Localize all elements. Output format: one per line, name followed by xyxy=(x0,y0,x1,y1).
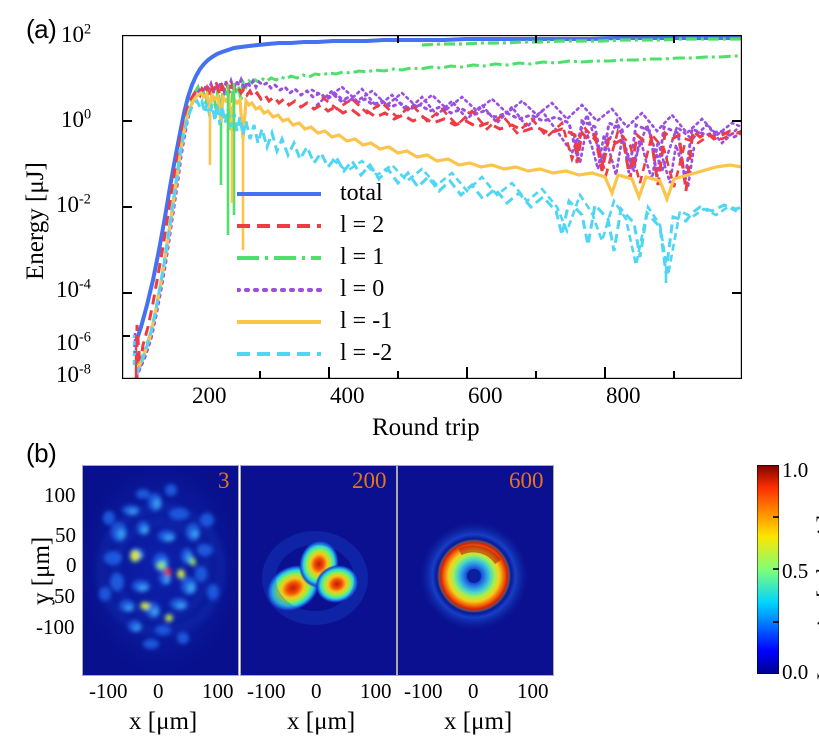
panel-b-xtick-3-2: 100 xyxy=(517,679,549,704)
colorbar-tick-min: 0.0 xyxy=(782,660,808,685)
panel-b-xtick-3-0: -100 xyxy=(404,679,443,704)
panel-a-xtick-0: 200 xyxy=(192,383,227,409)
panel-b-label: (b) xyxy=(26,438,56,469)
colorbar-tick-mid: 0.5 xyxy=(782,559,808,584)
colorbar-tick-max: 1.0 xyxy=(782,458,808,483)
panel-b-xlabel-3: x [μm] xyxy=(444,708,512,736)
legend-label-total: total xyxy=(340,180,383,207)
panel-b-xtick-2-2: 100 xyxy=(360,679,392,704)
panel-a-ytick-1: 100 xyxy=(61,107,91,133)
panel-b-subplot-2 xyxy=(240,465,397,676)
legend-label-lm1: l = -1 xyxy=(340,308,392,335)
panel-b-round-trip-2: 200 xyxy=(352,468,387,494)
figure-root: (a) Energy [μJ] 102 100 10-2 10-4 10-6 1… xyxy=(0,0,819,739)
panel-b-xtick-1-2: 100 xyxy=(202,679,234,704)
panel-a-plot xyxy=(122,35,742,379)
panel-b-xtick-1-1: 0 xyxy=(153,679,164,704)
legend-label-l0: l = 0 xyxy=(340,276,384,303)
panel-a-xlabel: Round trip xyxy=(372,414,480,442)
panel-b-round-trip-3: 600 xyxy=(509,468,544,494)
panel-b-ytick-3: -50 xyxy=(47,584,75,609)
panel-b-subplot-1 xyxy=(82,465,239,676)
panel-a-xtick-3: 800 xyxy=(606,383,641,409)
panel-a-label: (a) xyxy=(26,14,56,45)
panel-a-legend-lines xyxy=(237,188,327,356)
legend-label-l1: l = 1 xyxy=(340,244,384,271)
donut-vortex-pattern xyxy=(418,520,530,632)
panel-b-round-trip-1: 3 xyxy=(218,468,230,494)
panel-b-xlabel-1: x [μm] xyxy=(129,708,197,736)
colorbar xyxy=(757,465,779,674)
panel-b-ytick-1: 50 xyxy=(55,523,76,548)
panel-b-xtick-1-0: -100 xyxy=(89,679,128,704)
panel-b-xlabel-2: x [μm] xyxy=(287,708,355,736)
panel-a-ytick-4: 10-6 xyxy=(56,330,91,356)
panel-b-xtick-2-1: 0 xyxy=(311,679,322,704)
panel-b-ytick-0: 100 xyxy=(44,483,76,508)
panel-a-ylabel: Energy [μJ] xyxy=(22,162,50,280)
panel-a-ytick-3: 10-4 xyxy=(56,277,91,303)
panel-b-xtick-3-1: 0 xyxy=(468,679,479,704)
panel-a-ytick-0: 102 xyxy=(61,22,91,48)
panel-b-subplot-3 xyxy=(397,465,554,676)
panel-b-ytick-4: -100 xyxy=(36,615,75,640)
panel-a-ytick-2: 10-2 xyxy=(56,192,91,218)
legend-label-l2: l = 2 xyxy=(340,212,384,239)
panel-a-xtick-2: 600 xyxy=(468,383,503,409)
panel-a-xtick-1: 400 xyxy=(330,383,365,409)
panel-b-xtick-2-0: -100 xyxy=(247,679,286,704)
colorbar-label: Intensity [arb.unit] xyxy=(812,515,819,680)
panel-b-ytick-2: 0 xyxy=(66,553,77,578)
legend-label-lm2: l = -2 xyxy=(340,340,392,367)
panel-a-ytick-5: 10-8 xyxy=(56,362,91,388)
